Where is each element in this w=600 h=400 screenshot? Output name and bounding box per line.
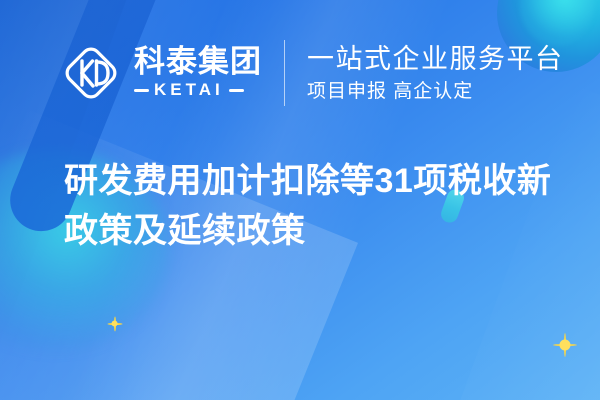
logo-name-en: KETAI xyxy=(154,80,224,100)
logo-wordmark: 科泰集团 KETAI xyxy=(134,46,262,101)
tagline-main: 一站式企业服务平台 xyxy=(307,44,564,76)
headline-line-1: 研发费用加计扣除等31项税收新 xyxy=(64,156,564,206)
vertical-divider-icon xyxy=(284,40,285,106)
tagline-block: 一站式企业服务平台 项目申报 高企认定 xyxy=(307,44,564,103)
logo-rule-left-icon xyxy=(134,89,149,92)
four-point-sparkle-icon-small xyxy=(107,316,122,331)
logo-rule-right-icon xyxy=(229,89,244,92)
headline-line-2: 政策及延续政策 xyxy=(64,206,564,256)
ketai-diamond-monogram-icon xyxy=(58,40,124,106)
tagline-sub: 项目申报 高企认定 xyxy=(307,81,564,103)
page-title: 研发费用加计扣除等31项税收新 政策及延续政策 xyxy=(64,156,564,256)
logo-name-cn: 科泰集团 xyxy=(134,46,262,78)
logo-name-en-row: KETAI xyxy=(134,80,262,100)
promo-banner: 科泰集团 KETAI 一站式企业服务平台 项目申报 高企认定 研发费用加计扣除等… xyxy=(0,0,600,400)
four-point-sparkle-icon-large xyxy=(553,333,577,357)
banner-header: 科泰集团 KETAI 一站式企业服务平台 项目申报 高企认定 xyxy=(58,34,564,112)
